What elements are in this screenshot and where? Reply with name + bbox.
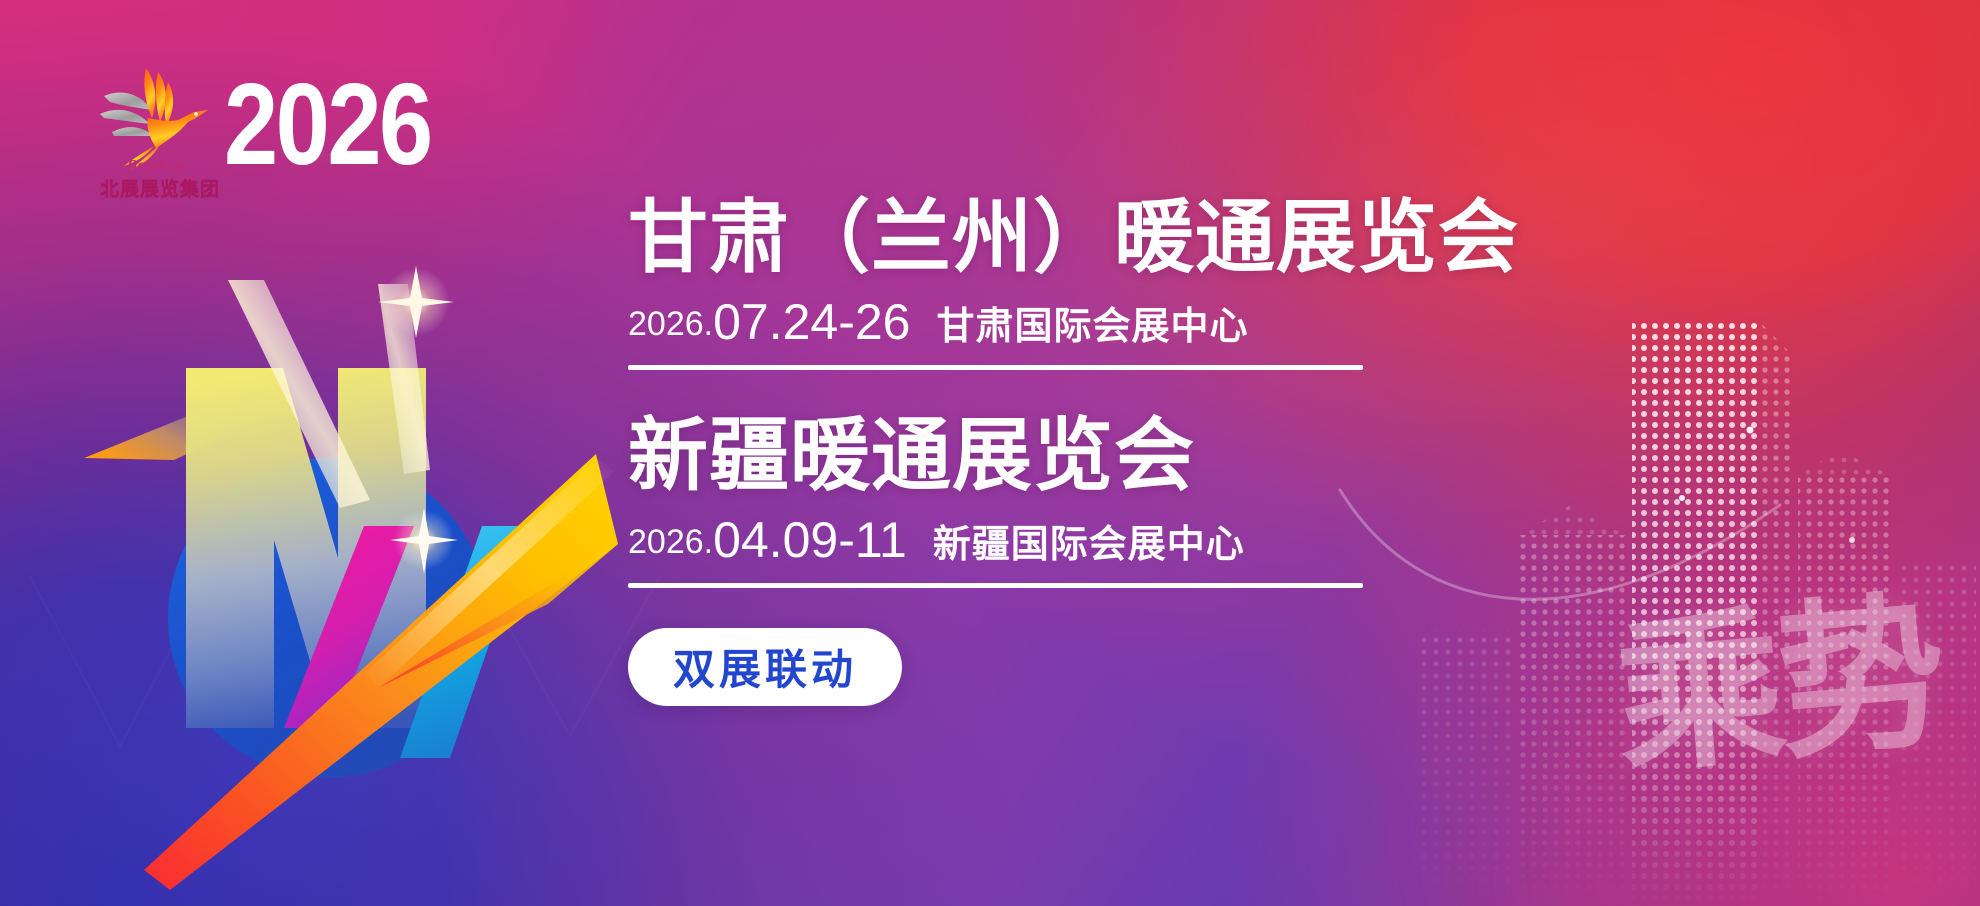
exhibition-entry-1: 甘肃（兰州）暖通展览会 2026. 07.24-26 甘肃国际会展中心 <box>628 196 1388 370</box>
exhibition-venue-1: 甘肃国际会展中心 <box>936 295 1248 350</box>
logo-chinese-name: 北展展览集团 <box>100 174 212 201</box>
exhibition-dates-1: 07.24-26 <box>713 293 910 351</box>
exhibition-title-2: 新疆暖通展览会 <box>628 414 1388 499</box>
brand-logo-block: Beizhan 北展展览集团 2026 <box>96 62 426 212</box>
sparkle-star-lower <box>390 508 458 574</box>
exhibition-year-2: 2026. <box>628 523 713 562</box>
exhibition-venue-2: 新疆国际会展中心 <box>933 513 1245 568</box>
curved-swoosh-line <box>1330 470 1790 670</box>
phoenix-bird-logo-icon <box>96 62 214 170</box>
spacer <box>628 370 1388 414</box>
exhibition-dates-2: 04.09-11 <box>713 511 907 569</box>
exhibition-title-1: 甘肃（兰州）暖通展览会 <box>628 196 1388 281</box>
logo-english-name: Beizhan <box>100 158 212 172</box>
year-heading: 2026 <box>224 66 431 182</box>
nt-monogram-emblem <box>78 258 638 898</box>
exhibition-info-column: 甘肃（兰州）暖通展览会 2026. 07.24-26 甘肃国际会展中心 新疆暖通… <box>628 196 1388 706</box>
exhibition-entry-2: 新疆暖通展览会 2026. 04.09-11 新疆国际会展中心 <box>628 414 1388 588</box>
exhibition-year-1: 2026. <box>628 305 713 344</box>
divider-2 <box>628 583 1363 588</box>
calligraphy-watermark: 乘势 <box>1609 586 1970 875</box>
dotted-city-skyline <box>1420 300 1980 906</box>
exhibition-meta-2: 2026. 04.09-11 新疆国际会展中心 <box>628 511 1388 569</box>
dual-exhibition-badge[interactable]: 双展联动 <box>628 628 902 706</box>
sparkle-star-upper <box>378 266 454 338</box>
exhibition-meta-1: 2026. 07.24-26 甘肃国际会展中心 <box>628 293 1388 351</box>
exhibition-banner: 乘势 <box>0 0 1980 906</box>
